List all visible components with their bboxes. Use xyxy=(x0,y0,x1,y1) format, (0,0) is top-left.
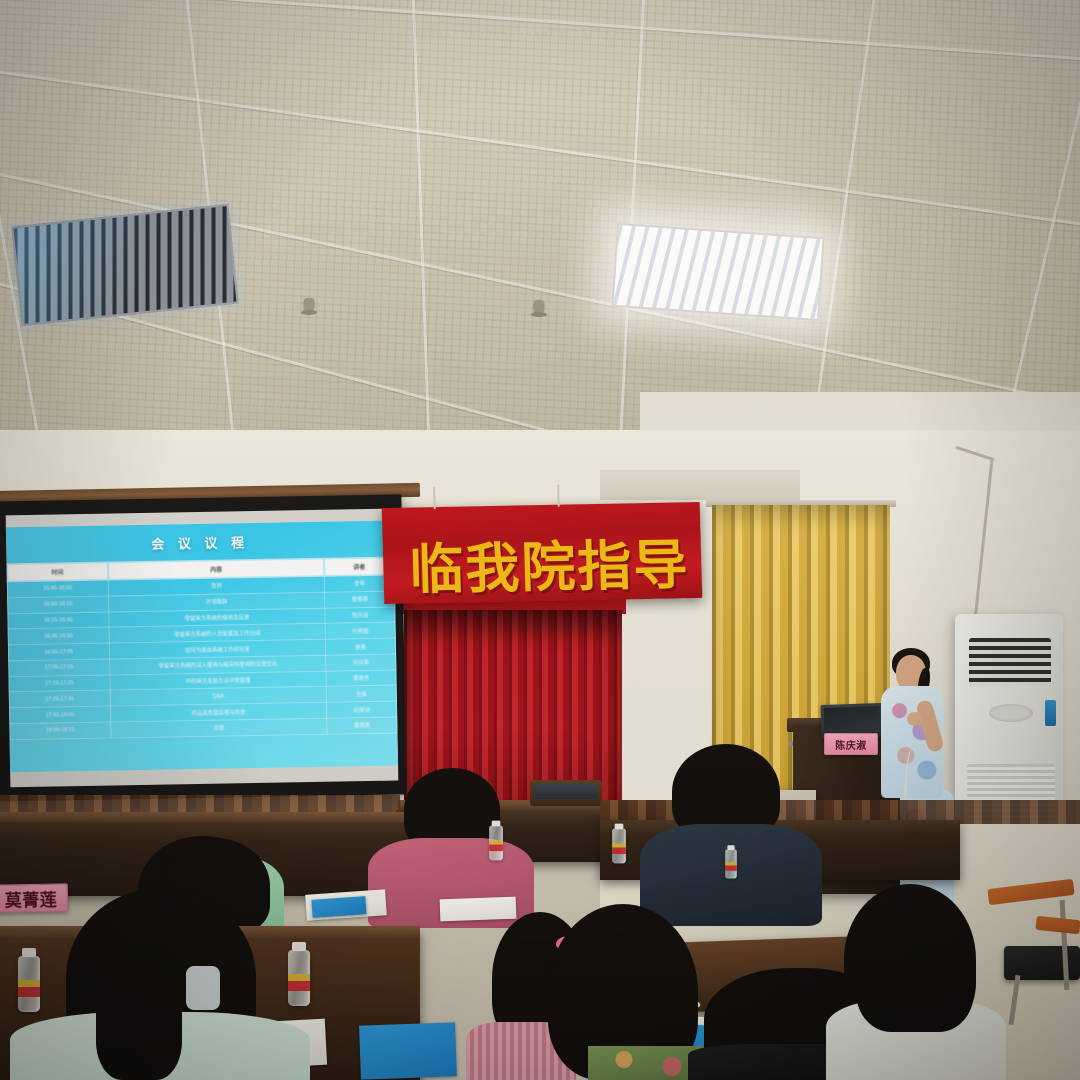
blue-folder[interactable] xyxy=(359,1022,457,1079)
water-bottle[interactable] xyxy=(288,950,310,1006)
ac-logo xyxy=(989,704,1033,722)
speaker-hand xyxy=(907,712,923,726)
wall-soffit xyxy=(600,470,800,500)
sprinkler-head xyxy=(534,300,544,314)
agenda-cell-speaker: 莫菁莲 xyxy=(327,717,397,734)
agenda-cell-speaker: 全体 xyxy=(327,686,397,703)
agenda-cell-speaker: 陈庆淑 xyxy=(325,607,395,624)
blue-folder[interactable] xyxy=(311,896,366,918)
agenda-cell-time: 16:45-16:55 xyxy=(8,627,109,645)
agenda-cell-speaker: 黄艳芳 xyxy=(326,670,396,687)
ac-top-vent-icon xyxy=(969,638,1051,686)
bottle-cap xyxy=(22,948,36,957)
agenda-cell-time: 18:00-18:15 xyxy=(10,722,111,740)
front-row-nameplate: 莫菁莲 xyxy=(0,883,68,912)
foreground-hair xyxy=(856,900,974,1032)
agenda-cell-time: 16:55-17:05 xyxy=(8,643,109,661)
projector-screen-surface: 会 议 议 程 时间 内容 讲者 15:45-16:00签到全体16:00-16… xyxy=(6,509,399,788)
audience-desk-row-1-top xyxy=(0,812,470,822)
handout-paper[interactable] xyxy=(440,897,517,922)
agenda-cell-speaker: 冯日英 xyxy=(326,654,396,671)
slide-title: 会 议 议 程 xyxy=(6,521,394,556)
agenda-cell-time: 17:25-17:45 xyxy=(9,691,110,709)
agenda-cell-topic: 总结 xyxy=(110,718,327,738)
water-bottle[interactable] xyxy=(612,829,626,864)
agenda-cell-time: 16:15-16:45 xyxy=(8,612,109,630)
agenda-table: 时间 内容 讲者 15:45-16:00签到全体16:00-16:15开场致辞莫… xyxy=(6,557,397,741)
face-mask xyxy=(186,966,220,1010)
bottle-label xyxy=(18,980,40,997)
bottle-cap xyxy=(492,821,501,827)
front-row-nameplate-text: 莫菁莲 xyxy=(5,885,58,911)
bottle-cap xyxy=(615,824,624,830)
agenda-cell-speaker: 黄燕 xyxy=(326,638,396,655)
bottle-cap xyxy=(292,942,306,951)
podium-nameplate-text: 陈庆淑 xyxy=(835,737,867,752)
agenda-cell-time: 17:05-17:15 xyxy=(9,659,110,677)
bottle-label xyxy=(489,841,503,852)
banner-text: 临我院指导 xyxy=(408,520,700,605)
agenda-col-time: 时间 xyxy=(7,562,108,582)
agenda-cell-time: 15:45-16:00 xyxy=(7,580,108,598)
ac-energy-badge xyxy=(1045,700,1056,726)
water-bottle[interactable] xyxy=(489,826,503,861)
podium-nameplate: 陈庆淑 xyxy=(824,733,878,755)
water-bottle[interactable] xyxy=(18,956,40,1012)
bottle-label xyxy=(725,862,736,871)
agenda-cell-time: 17:15-17:25 xyxy=(9,675,110,693)
welcome-banner: 临我院指导 xyxy=(382,502,703,604)
bottle-label xyxy=(612,844,626,855)
bottle-cap xyxy=(727,845,734,850)
sprinkler-head xyxy=(304,298,314,312)
agenda-cell-time: 17:45-18:00 xyxy=(10,706,111,724)
stage-chair-pad xyxy=(535,784,597,799)
water-bottle[interactable] xyxy=(725,849,736,878)
projector-screen[interactable]: 会 议 议 程 时间 内容 讲者 15:45-16:00签到全体16:00-16… xyxy=(0,494,407,801)
agenda-cell-time: 16:00-16:15 xyxy=(8,596,109,614)
foreground-ponytail xyxy=(96,950,182,1080)
agenda-cell-speaker: 何琴诗 xyxy=(327,701,397,718)
presentation-slide: 会 议 议 程 时间 内容 讲者 15:45-16:00签到全体16:00-16… xyxy=(6,521,398,773)
bottle-label xyxy=(288,974,310,991)
agenda-cell-speaker: 叶明霞 xyxy=(325,622,395,639)
ceiling-light-fixture xyxy=(611,223,824,321)
conference-room-photo: 会 议 议 程 时间 内容 讲者 15:45-16:00签到全体16:00-16… xyxy=(0,0,1080,1080)
agenda-body: 15:45-16:00签到全体16:00-16:15开场致辞莫菁莲16:15-1… xyxy=(7,575,397,740)
